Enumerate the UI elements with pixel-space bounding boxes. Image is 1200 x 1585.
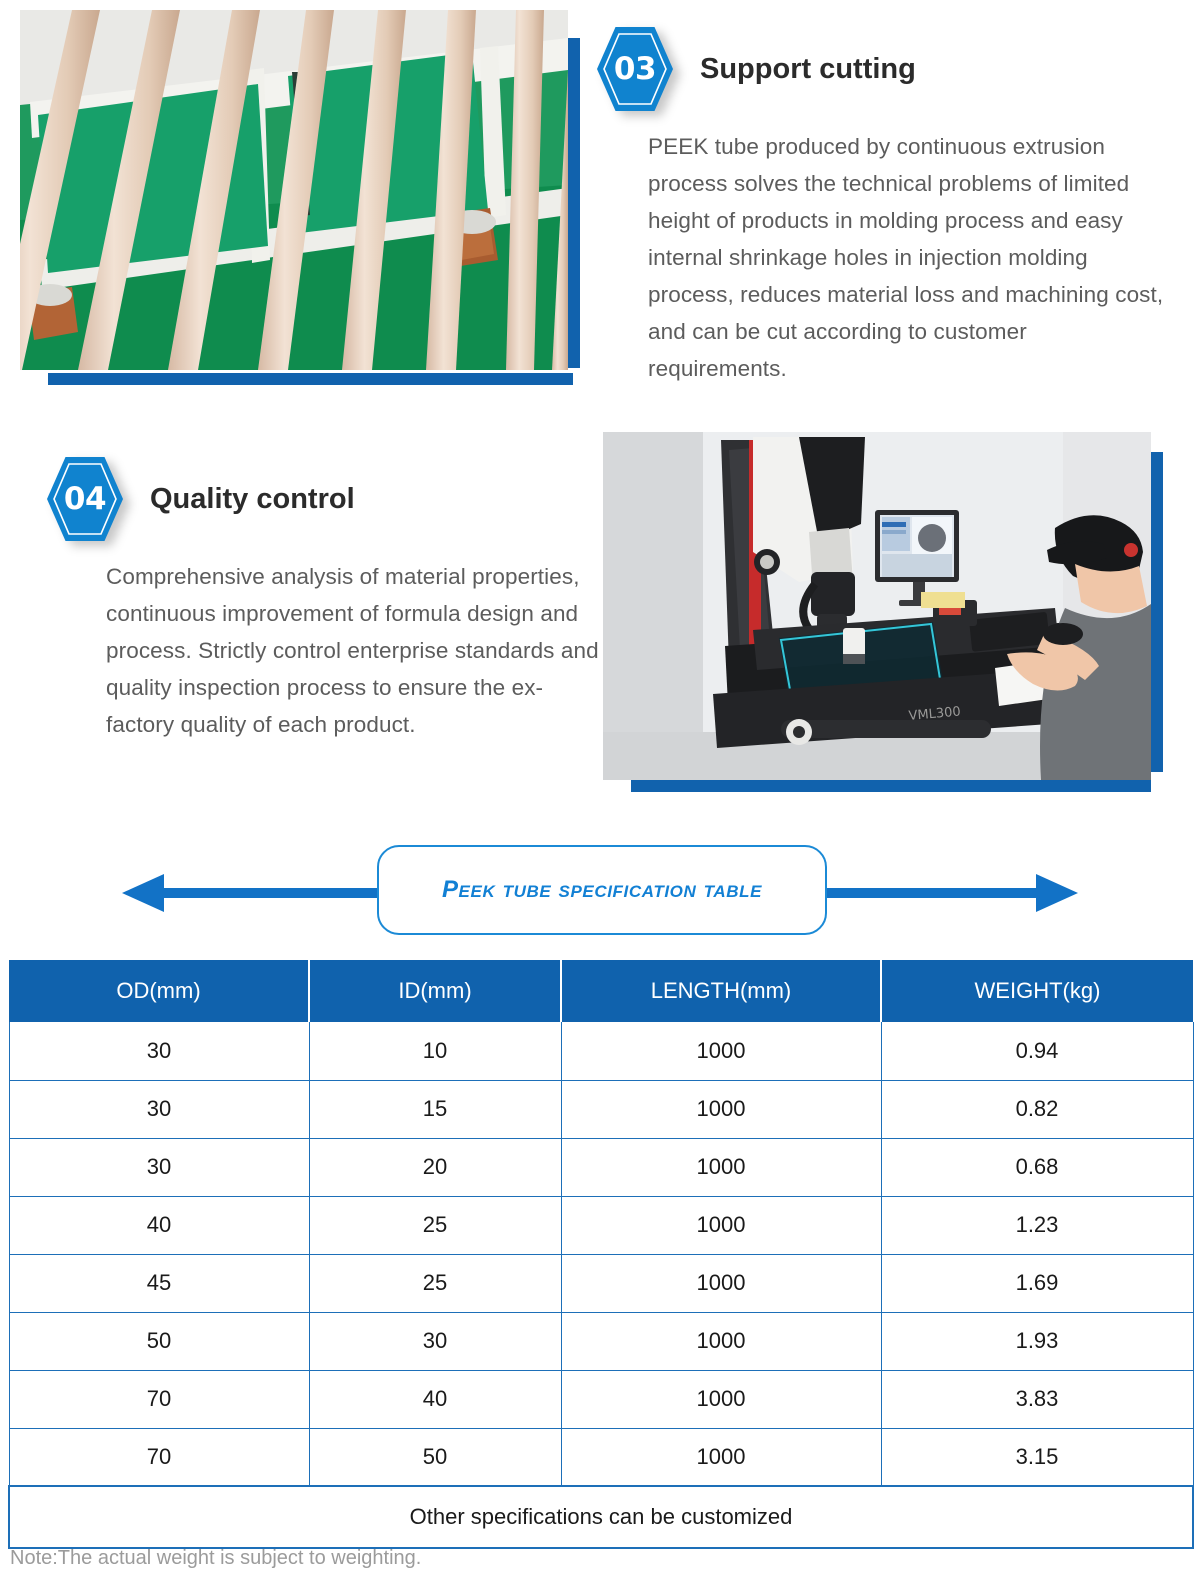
cell-weight: 0.94 xyxy=(881,1022,1193,1080)
column-header-id: ID(mm) xyxy=(309,960,561,1022)
spec-table-title-box: Peek tube specification table xyxy=(377,845,827,935)
section-body-support-cutting: PEEK tube produced by continuous extrusi… xyxy=(648,128,1168,387)
cell-id: 30 xyxy=(309,1312,561,1370)
hexagon-badge-number: 03 xyxy=(596,26,674,112)
table-row: 45 25 1000 1.69 xyxy=(9,1254,1193,1312)
table-note: Note:The actual weight is subject to wei… xyxy=(10,1547,421,1570)
cell-id: 15 xyxy=(309,1080,561,1138)
section-title: Support cutting xyxy=(700,53,916,86)
table-row: 70 40 1000 3.83 xyxy=(9,1370,1193,1428)
section-body-quality-control: Comprehensive analysis of material prope… xyxy=(106,558,606,743)
section-header-support-cutting: 03 Support cutting xyxy=(596,26,916,112)
cell-od: 30 xyxy=(9,1080,309,1138)
arrow-left-icon xyxy=(122,874,164,912)
cell-od: 40 xyxy=(9,1196,309,1254)
photo-frame-right-bar xyxy=(568,38,580,368)
cell-weight: 0.68 xyxy=(881,1138,1193,1196)
cell-weight: 1.93 xyxy=(881,1312,1193,1370)
cell-od: 45 xyxy=(9,1254,309,1312)
photo-peek-rods-on-green-factory-floor xyxy=(20,10,568,370)
product-detail-page: 03 Support cutting PEEK tube produced by… xyxy=(0,0,1200,1585)
section-header-quality-control: 04 Quality control xyxy=(46,456,355,542)
table-footer-note: Other specifications can be customized xyxy=(9,1486,1193,1548)
cell-length: 1000 xyxy=(561,1254,881,1312)
cell-id: 20 xyxy=(309,1138,561,1196)
cell-od: 50 xyxy=(9,1312,309,1370)
cell-length: 1000 xyxy=(561,1196,881,1254)
cell-id: 10 xyxy=(309,1022,561,1080)
photo-frame-right-bar xyxy=(1151,452,1163,772)
table-row: 30 20 1000 0.68 xyxy=(9,1138,1193,1196)
cell-weight: 1.23 xyxy=(881,1196,1193,1254)
hexagon-badge-number: 04 xyxy=(46,456,124,542)
cell-length: 1000 xyxy=(561,1022,881,1080)
cell-length: 1000 xyxy=(561,1080,881,1138)
table-footer-row: Other specifications can be customized xyxy=(9,1486,1193,1548)
cell-weight: 3.83 xyxy=(881,1370,1193,1428)
cell-od: 30 xyxy=(9,1022,309,1080)
cell-weight: 1.69 xyxy=(881,1254,1193,1312)
column-header-length: LENGTH(mm) xyxy=(561,960,881,1022)
hexagon-badge-03: 03 xyxy=(596,26,674,112)
cell-id: 25 xyxy=(309,1254,561,1312)
cell-id: 25 xyxy=(309,1196,561,1254)
spec-table-title-banner: Peek tube specification table xyxy=(0,845,1200,940)
cell-length: 1000 xyxy=(561,1138,881,1196)
hexagon-badge-04: 04 xyxy=(46,456,124,542)
photo-frame-bottom-bar xyxy=(48,373,573,385)
cell-weight: 3.15 xyxy=(881,1428,1193,1486)
section-title: Quality control xyxy=(150,483,355,516)
cell-od: 30 xyxy=(9,1138,309,1196)
cell-od: 70 xyxy=(9,1370,309,1428)
photo-frame-bottom-bar xyxy=(631,780,1151,792)
column-header-weight: WEIGHT(kg) xyxy=(881,960,1193,1022)
table-row: 70 50 1000 3.15 xyxy=(9,1428,1193,1486)
cell-length: 1000 xyxy=(561,1312,881,1370)
photo-operator-using-vision-measuring-machine: VML300 xyxy=(603,432,1151,780)
cell-id: 40 xyxy=(309,1370,561,1428)
cell-id: 50 xyxy=(309,1428,561,1486)
table-row: 30 10 1000 0.94 xyxy=(9,1022,1193,1080)
cell-length: 1000 xyxy=(561,1370,881,1428)
table-row: 30 15 1000 0.82 xyxy=(9,1080,1193,1138)
cell-od: 70 xyxy=(9,1428,309,1486)
cell-length: 1000 xyxy=(561,1428,881,1486)
table-header-row: OD(mm) ID(mm) LENGTH(mm) WEIGHT(kg) xyxy=(9,960,1193,1022)
peek-tube-specification-table: OD(mm) ID(mm) LENGTH(mm) WEIGHT(kg) 30 1… xyxy=(8,960,1194,1549)
table-row: 50 30 1000 1.93 xyxy=(9,1312,1193,1370)
photo-block-quality-inspection: VML300 xyxy=(603,432,1163,792)
table-row: 40 25 1000 1.23 xyxy=(9,1196,1193,1254)
column-header-od: OD(mm) xyxy=(9,960,309,1022)
spec-table-title: Peek tube specification table xyxy=(442,876,762,904)
photo-block-peek-rods xyxy=(20,10,580,385)
cell-weight: 0.82 xyxy=(881,1080,1193,1138)
arrow-right-icon xyxy=(1036,874,1078,912)
